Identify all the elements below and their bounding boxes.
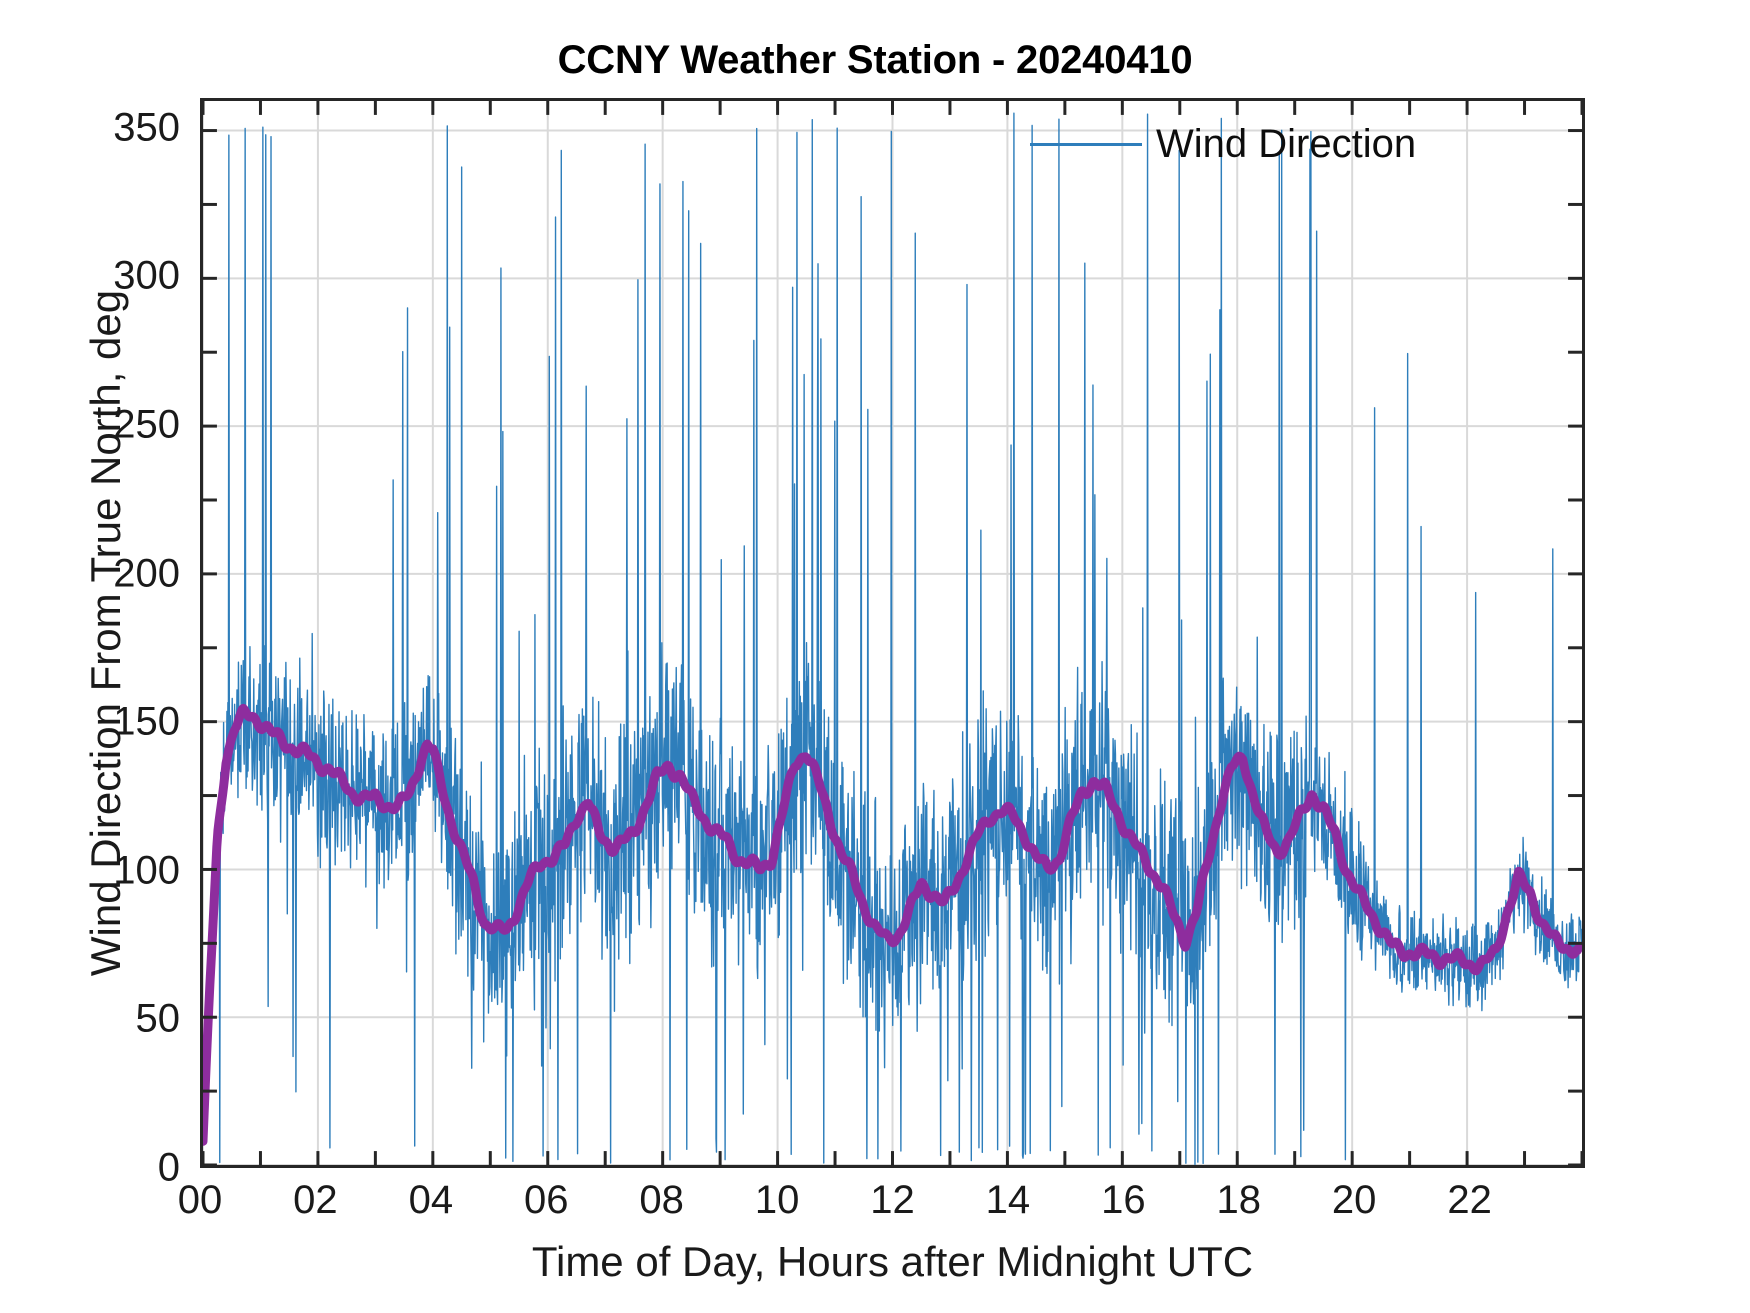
legend-label-wind-direction: Wind Direction <box>1156 122 1416 167</box>
x-tick-label: 02 <box>255 1178 375 1223</box>
x-tick-label: 10 <box>717 1178 837 1223</box>
plot-svg <box>203 101 1582 1165</box>
x-tick-label: 08 <box>602 1178 722 1223</box>
x-tick-label: 04 <box>371 1178 491 1223</box>
x-tick-label: 22 <box>1410 1178 1530 1223</box>
legend-line-sample-wind-direction <box>1030 143 1142 146</box>
x-tick-label: 14 <box>948 1178 1068 1223</box>
plot-axes <box>200 98 1585 1168</box>
figure-canvas: CCNY Weather Station - 20240410 35030025… <box>0 0 1750 1313</box>
x-tick-label: 00 <box>140 1178 260 1223</box>
x-tick-label: 06 <box>486 1178 606 1223</box>
page-title: CCNY Weather Station - 20240410 <box>0 38 1750 83</box>
x-tick-label: 18 <box>1179 1178 1299 1223</box>
x-axis-label: Time of Day, Hours after Midnight UTC <box>200 1238 1585 1286</box>
x-tick-label: 16 <box>1063 1178 1183 1223</box>
chart-legend: Wind Direction <box>1030 122 1416 167</box>
x-tick-label: 12 <box>833 1178 953 1223</box>
y-axis-label: Wind Direction From True North, deg <box>78 98 134 1168</box>
x-tick-label: 20 <box>1294 1178 1414 1223</box>
